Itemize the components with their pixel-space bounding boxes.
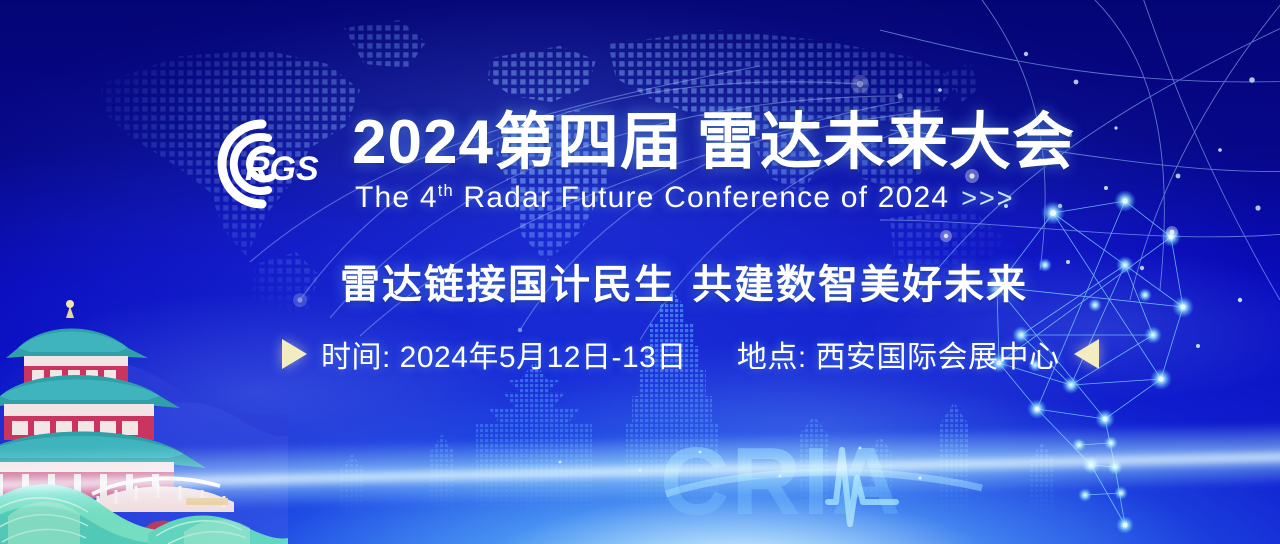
title-edition: 第四届: [494, 108, 683, 177]
logo-wordmark: RGS: [245, 150, 319, 188]
event-info-row: 时间: 2024年5月12日-13日 地点: 西安国际会展中心: [282, 332, 1099, 376]
page-title: 2024第四届雷达未来大会: [352, 112, 1075, 174]
subtitle-ordinal: th: [438, 182, 454, 200]
event-venue: 地点: 西安国际会展中心: [737, 332, 1060, 376]
conference-banner: CRIA: [0, 0, 1280, 544]
event-date: 时间: 2024年5月12日-13日: [321, 332, 687, 376]
title-block: 2024第四届雷达未来大会 The 4th Radar Future Confe…: [352, 112, 1075, 215]
triangle-right-icon: [282, 339, 307, 369]
banner-content: RGS 2024第四届雷达未来大会 The 4th Radar Future C…: [0, 0, 1280, 544]
subtitle-row: The 4th Radar Future Conference of 2024 …: [355, 181, 1075, 215]
subtitle-rest: Radar Future Conference of 2024: [454, 181, 949, 214]
logo-and-title: RGS 2024第四届雷达未来大会 The 4th Radar Future C…: [188, 112, 1075, 215]
crgs-logo: RGS: [188, 118, 336, 210]
title-name: 雷达未来大会: [697, 108, 1075, 177]
slogan-part2: 共建数智美好未来: [692, 263, 1028, 307]
slogan: 雷达链接国计民生共建数智美好未来: [340, 252, 1028, 310]
subtitle-english: The 4th Radar Future Conference of 2024: [355, 181, 949, 215]
triangle-left-icon: [1074, 339, 1099, 369]
chevron-right-icon: >>>: [961, 183, 1014, 214]
slogan-part1: 雷达链接国计民生: [340, 263, 676, 307]
subtitle-prefix: The 4: [355, 181, 438, 214]
title-year: 2024: [352, 108, 494, 177]
